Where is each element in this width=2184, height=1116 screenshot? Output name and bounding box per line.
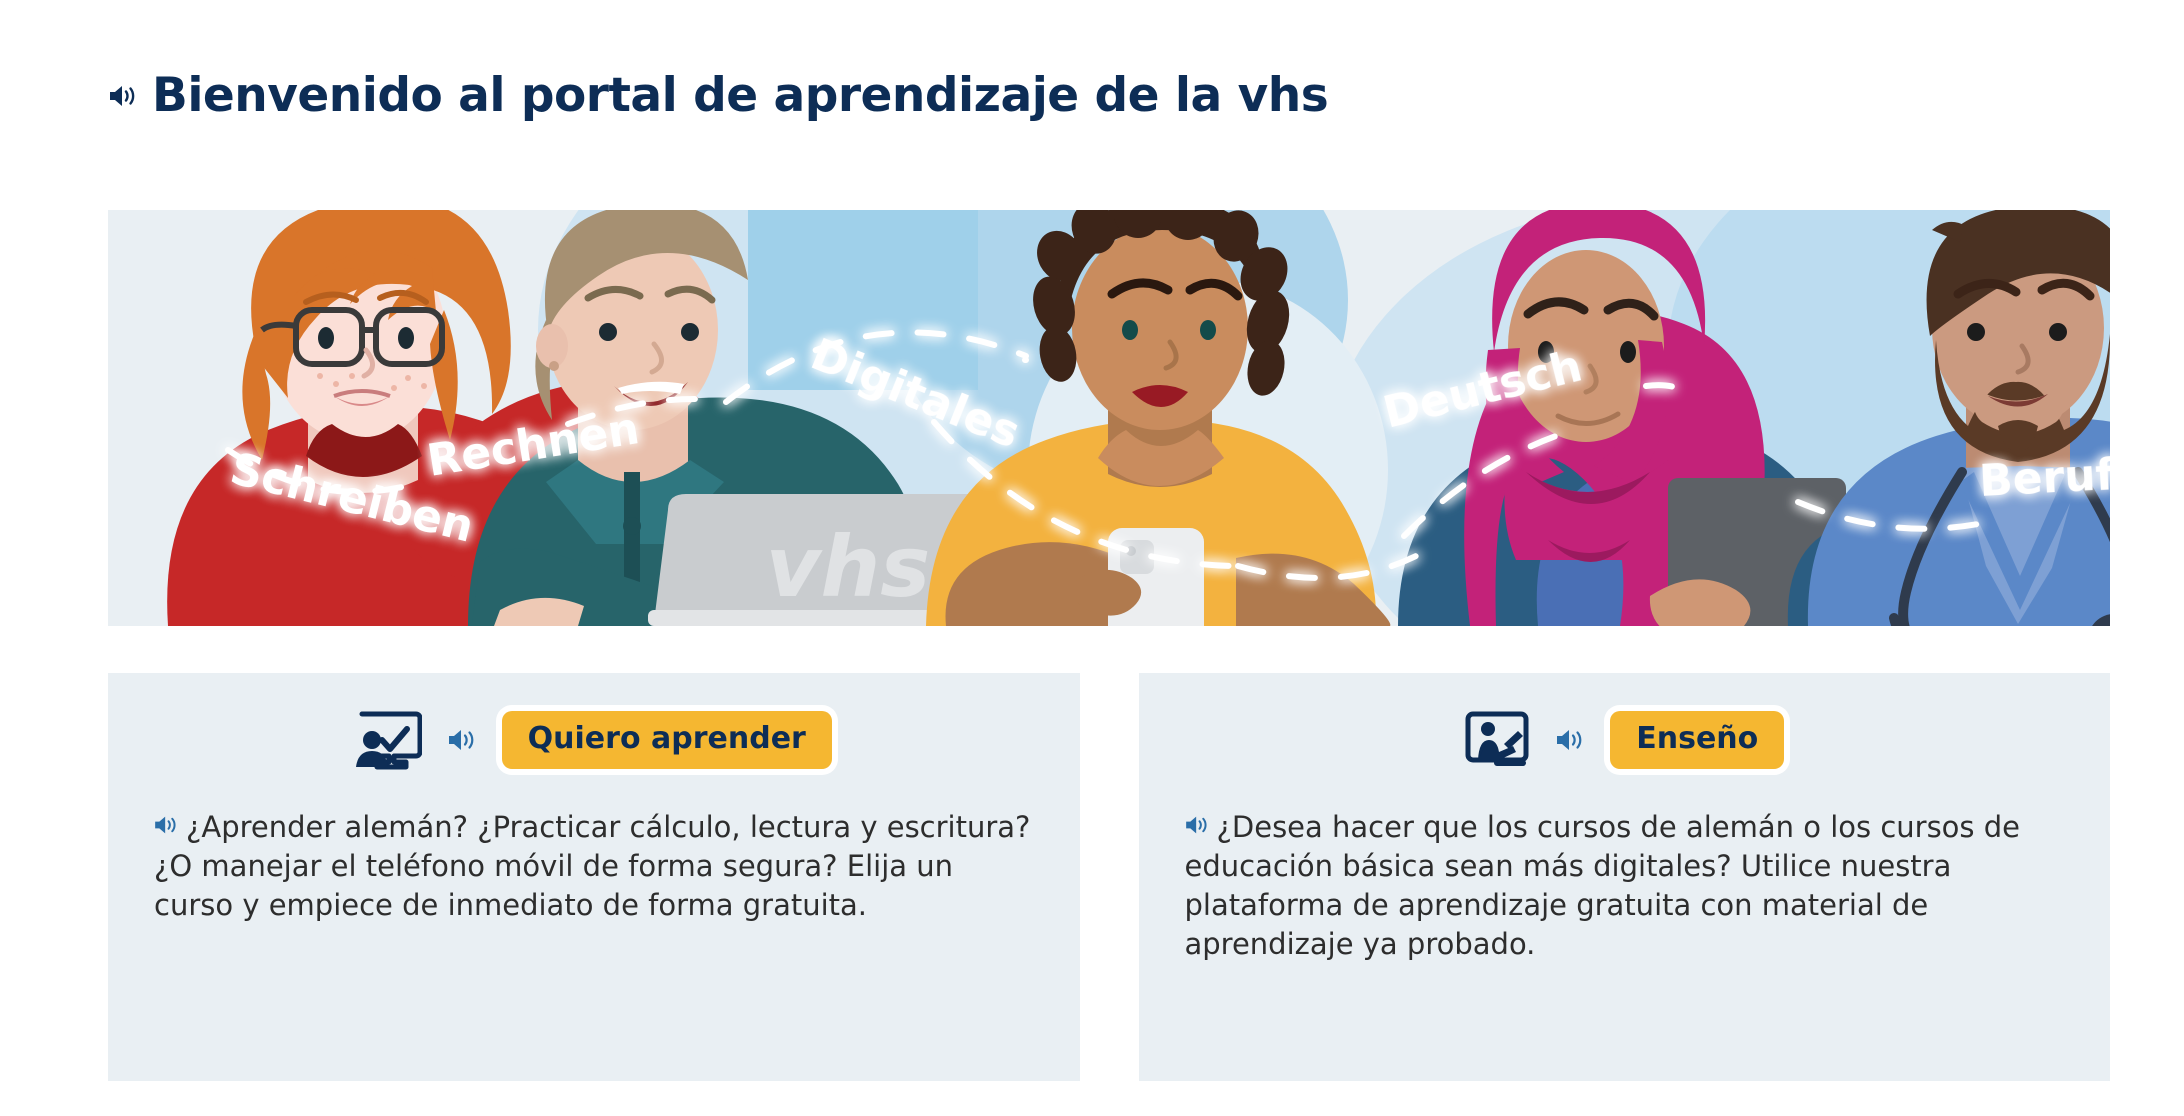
enseno-button[interactable]: Enseño — [1610, 711, 1784, 769]
person-monitor-check-icon — [356, 710, 422, 770]
card-teacher-body-text: ¿Desea hacer que los cursos de alemán o … — [1185, 810, 2021, 961]
speaker-icon[interactable] — [154, 815, 178, 835]
speaker-icon[interactable] — [448, 728, 476, 752]
page-title-text: Bienvenido al portal de aprendizaje de l… — [152, 68, 1328, 123]
info-cards: Quiero aprender ¿Aprender alemán? ¿Pract… — [108, 673, 2110, 1081]
speaker-icon[interactable] — [1185, 815, 1209, 835]
page-title: Bienvenido al portal de aprendizaje de l… — [108, 68, 1328, 123]
speaker-icon[interactable] — [1556, 728, 1584, 752]
hero-banner: vhs — [108, 210, 2110, 626]
card-learner-header: Quiero aprender — [108, 673, 1080, 770]
teacher-whiteboard-icon — [1464, 710, 1530, 770]
quiero-aprender-button[interactable]: Quiero aprender — [502, 711, 832, 769]
card-teacher: Enseño ¿Desea hacer que los cursos de al… — [1139, 673, 2111, 1081]
card-teacher-body: ¿Desea hacer que los cursos de alemán o … — [1185, 808, 2065, 965]
card-teacher-header: Enseño — [1139, 673, 2111, 770]
speaker-icon[interactable] — [108, 83, 138, 109]
card-learner-body-text: ¿Aprender alemán? ¿Practicar cálculo, le… — [154, 810, 1030, 922]
svg-text:vhs: vhs — [766, 518, 931, 616]
page-root: Bienvenido al portal de aprendizaje de l… — [0, 0, 2184, 1116]
card-learner: Quiero aprender ¿Aprender alemán? ¿Pract… — [108, 673, 1080, 1081]
card-learner-body: ¿Aprender alemán? ¿Practicar cálculo, le… — [154, 808, 1034, 925]
hero-label-beruf: Beruf — [1978, 449, 2110, 507]
hero-illustration: vhs — [108, 210, 2110, 626]
